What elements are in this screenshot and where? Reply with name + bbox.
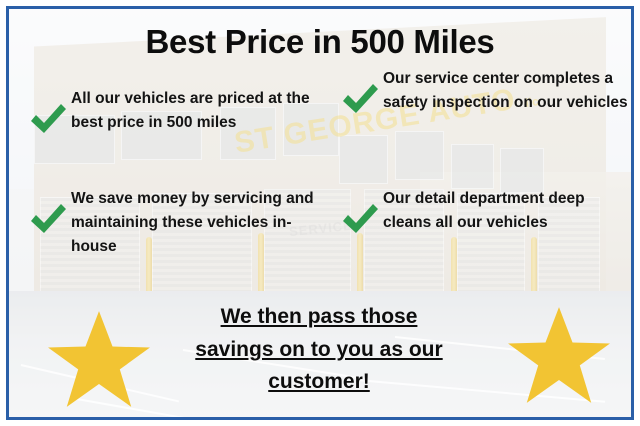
green-check-icon <box>27 199 69 241</box>
green-check-icon <box>27 99 69 141</box>
closing-line-2: savings on to you as our <box>195 338 442 361</box>
benefit-text: We save money by servicing and maintaini… <box>71 187 327 259</box>
benefit-item-detail-department: Our detail department deep cleans all ou… <box>339 187 634 241</box>
gold-star-icon <box>507 305 611 405</box>
benefit-item-priced-best: All our vehicles are priced at the best … <box>27 87 327 141</box>
closing-statement: We then pass those savings on to you as … <box>119 301 519 399</box>
green-check-icon <box>339 199 381 241</box>
advertisement-graphic: ST GEORGE AUTO llc SERVICE Best Price in… <box>0 0 640 426</box>
closing-line-3: customer! <box>268 370 370 393</box>
benefit-text: All our vehicles are priced at the best … <box>71 87 327 135</box>
benefit-text: Our service center completes a safety in… <box>383 67 634 115</box>
benefit-item-in-house-service: We save money by servicing and maintaini… <box>27 187 327 259</box>
green-check-icon <box>339 79 381 121</box>
closing-line-1: We then pass those <box>221 305 418 328</box>
benefit-item-safety-inspection: Our service center completes a safety in… <box>339 67 634 121</box>
benefit-text: Our detail department deep cleans all ou… <box>383 187 634 235</box>
page-title: Best Price in 500 Miles <box>9 23 631 61</box>
